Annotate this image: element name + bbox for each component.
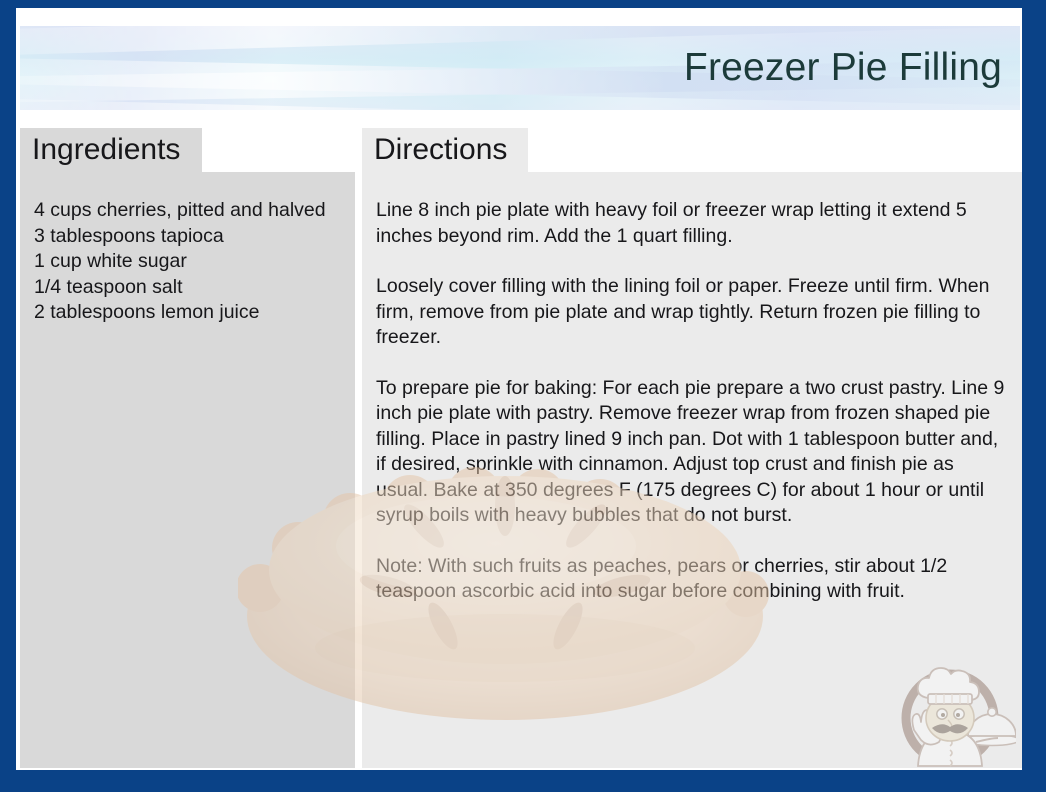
directions-header: Directions <box>362 128 1022 172</box>
direction-paragraph: Loosely cover filling with the lining fo… <box>376 274 1008 351</box>
list-item: 1/4 teaspoon salt <box>34 275 341 301</box>
directions-tab: Directions <box>362 128 528 172</box>
list-item: 2 tablespoons lemon juice <box>34 300 341 326</box>
page-title: Freezer Pie Filling <box>684 46 1002 90</box>
list-item: 3 tablespoons tapioca <box>34 224 341 250</box>
directions-body: Line 8 inch pie plate with heavy foil or… <box>362 172 1022 605</box>
frame-left-border <box>0 0 16 792</box>
frame-top-border <box>0 0 1046 8</box>
list-item: 1 cup white sugar <box>34 249 341 275</box>
direction-paragraph: Note: With such fruits as peaches, pears… <box>376 554 1008 605</box>
ingredients-header: Ingredients <box>20 128 355 172</box>
direction-paragraph: Line 8 inch pie plate with heavy foil or… <box>376 198 1008 249</box>
ingredients-heading: Ingredients <box>32 135 180 165</box>
ingredients-panel: Ingredients 4 cups cherries, pitted and … <box>20 128 355 768</box>
recipe-card: Freezer Pie Filling Ingredients 4 cups c… <box>0 0 1046 792</box>
title-banner: Freezer Pie Filling <box>20 26 1020 110</box>
frame-bottom-border <box>0 770 1046 792</box>
list-item: 4 cups cherries, pitted and halved <box>34 198 341 224</box>
ingredients-tab: Ingredients <box>20 128 202 172</box>
frame-right-border <box>1022 0 1046 792</box>
ingredient-list: 4 cups cherries, pitted and halved 3 tab… <box>34 198 341 326</box>
ingredients-body: 4 cups cherries, pitted and halved 3 tab… <box>20 172 355 326</box>
directions-panel: Directions Line 8 inch pie plate with he… <box>362 128 1022 768</box>
directions-heading: Directions <box>374 135 507 165</box>
direction-paragraph: To prepare pie for baking: For each pie … <box>376 376 1008 529</box>
